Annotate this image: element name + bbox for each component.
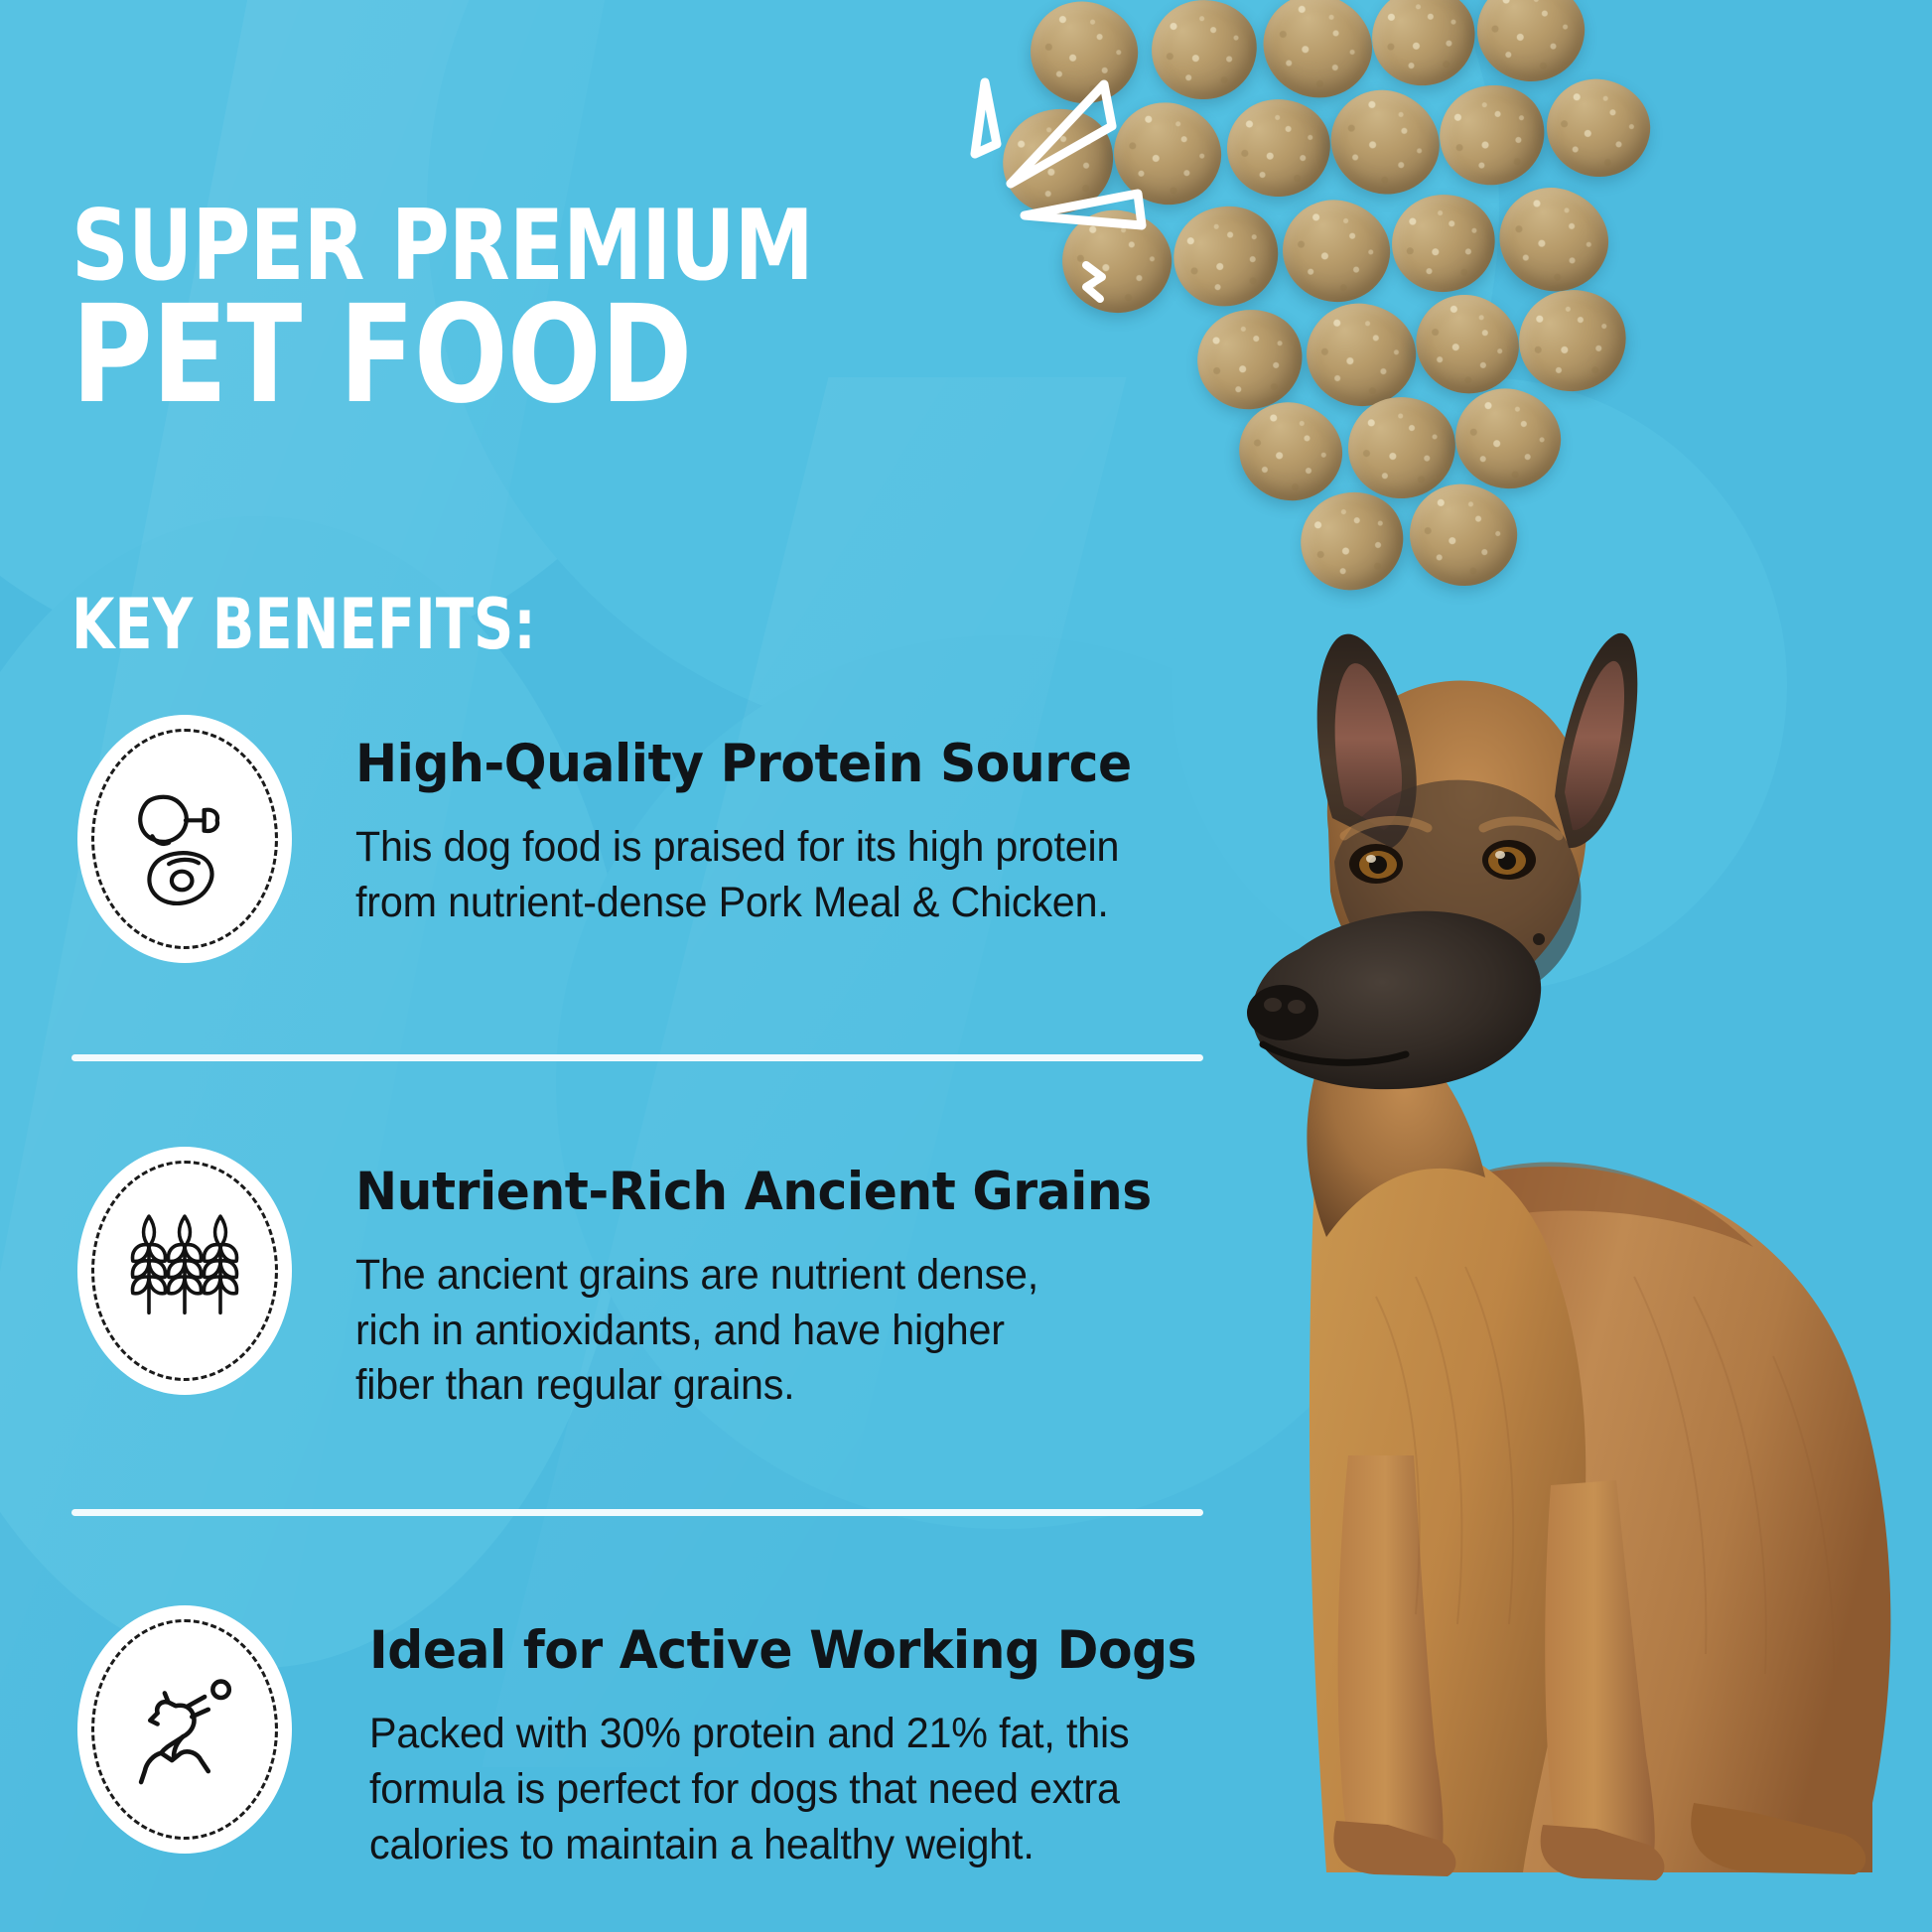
wheat-icon [77,1147,292,1395]
kibble-piece [1427,71,1558,199]
spacer [0,1414,1251,1509]
benefit-title: High-Quality Protein Source [355,737,1132,792]
kibble-piece [1510,280,1636,401]
benefit-body-line: The ancient grains are nutrient dense, [355,1248,1160,1304]
section-divider [71,1509,1203,1516]
title-line-2: PET FOOD [71,297,813,416]
benefit-body-line: rich in antioxidants, and have higher [355,1304,1160,1359]
spacer [0,1516,1251,1605]
benefit-body-line: fiber than regular grains. [355,1358,1160,1414]
spacer [0,1061,1251,1147]
benefit-body-line: from nutrient-dense Pork Meal & Chicken. [355,876,1140,931]
benefit-title: Nutrient-Rich Ancient Grains [355,1165,1152,1220]
kibble-piece [1362,0,1486,96]
benefit-body-line: calories to maintain a healthy weight. [369,1818,1205,1873]
benefit-body: Packed with 30% protein and 21% fat, thi… [369,1707,1205,1873]
kibble-piece [1446,378,1572,499]
kibble-piece [1300,297,1422,414]
meat-icon [77,715,292,963]
kibble-piece [1272,189,1400,313]
benefit-item: Ideal for Active Working Dogs Packed wit… [0,1605,1251,1872]
page-title: SUPER PREMIUM PET FOOD [71,204,976,416]
content-column: SUPER PREMIUM PET FOOD KEY BENEFITS: [0,0,1271,1932]
benefit-text-block: Ideal for Active Working Dogs Packed wit… [292,1605,1240,1872]
benefit-text-block: High-Quality Protein Source This dog foo… [292,715,1173,930]
benefits-list: High-Quality Protein Source This dog foo… [0,715,1251,1873]
benefit-item: High-Quality Protein Source This dog foo… [0,715,1251,963]
benefit-item: Nutrient-Rich Ancient Grains The ancient… [0,1147,1251,1414]
running-dog-icon [77,1605,292,1854]
kibble-piece [1472,0,1589,86]
key-benefits-heading: KEY BENEFITS: [71,584,536,665]
kibble-piece [1485,173,1623,307]
benefit-body-line: Packed with 30% protein and 21% fat, thi… [369,1707,1205,1762]
spacer [0,963,1251,1054]
benefit-text-block: Nutrient-Rich Ancient Grains The ancient… [292,1147,1193,1414]
benefit-title: Ideal for Active Working Dogs [369,1623,1196,1679]
benefit-body: This dog food is praised for its high pr… [355,820,1140,931]
benefit-body-line: formula is perfect for dogs that need ex… [369,1762,1205,1818]
benefit-body-line: This dog food is praised for its high pr… [355,820,1140,876]
section-divider [71,1054,1203,1061]
benefit-body: The ancient grains are nutrient dense, r… [355,1248,1160,1415]
kibble-piece [1384,187,1502,300]
kibble-piece [1539,71,1657,185]
